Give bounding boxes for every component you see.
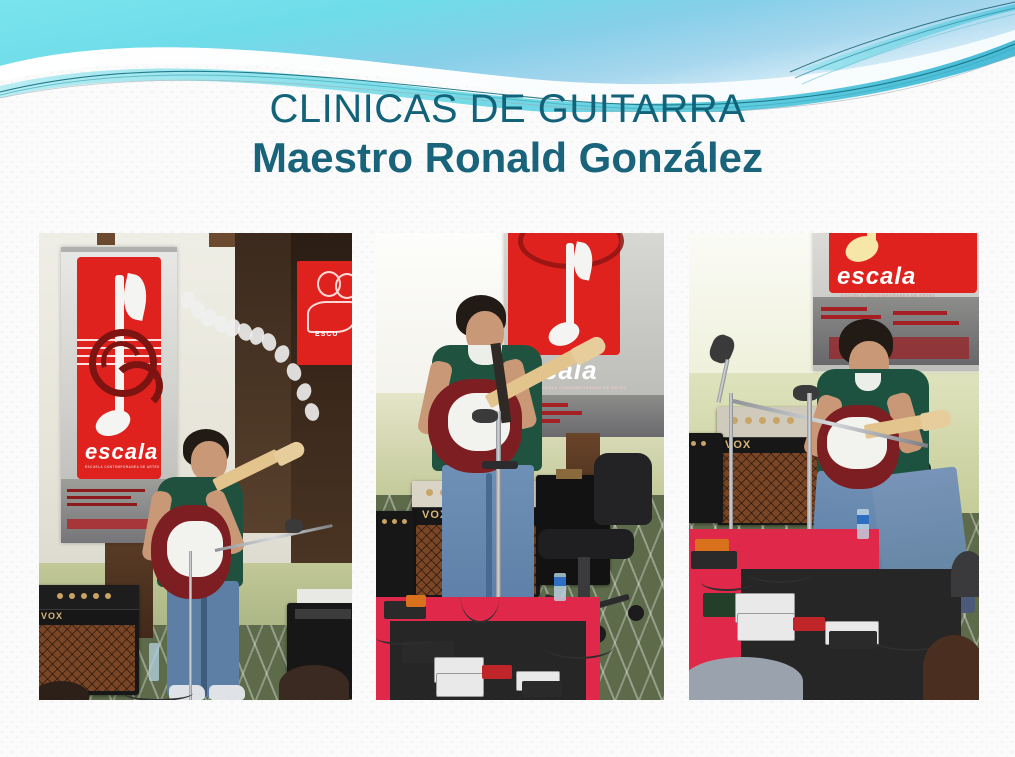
slide-title: CLINICAS DE GUITARRA Maestro Ronald Gonz… bbox=[0, 86, 1015, 184]
photo-guitarist-playing-with-vox-amp[interactable]: escala ESCUELA CONTEMPORANEA DE ARTES VO… bbox=[376, 233, 664, 700]
photo-guitarist-standing-with-banner[interactable]: escala ESCUELA CONTEMPORANEA DE ARTES ES… bbox=[39, 233, 352, 700]
amp-brand-label-photo-1: VOX bbox=[41, 611, 63, 621]
presentation-slide: CLINICAS DE GUITARRA Maestro Ronald Gonz… bbox=[0, 0, 1015, 757]
page-title-line-2: Maestro Ronald González bbox=[0, 132, 1015, 184]
page-title-line-1: CLINICAS DE GUITARRA bbox=[0, 86, 1015, 132]
photo-guitarist-seated-with-microphone[interactable]: escala ESCUELA CONTEMPORANEA DE ARTES VO… bbox=[689, 233, 979, 700]
